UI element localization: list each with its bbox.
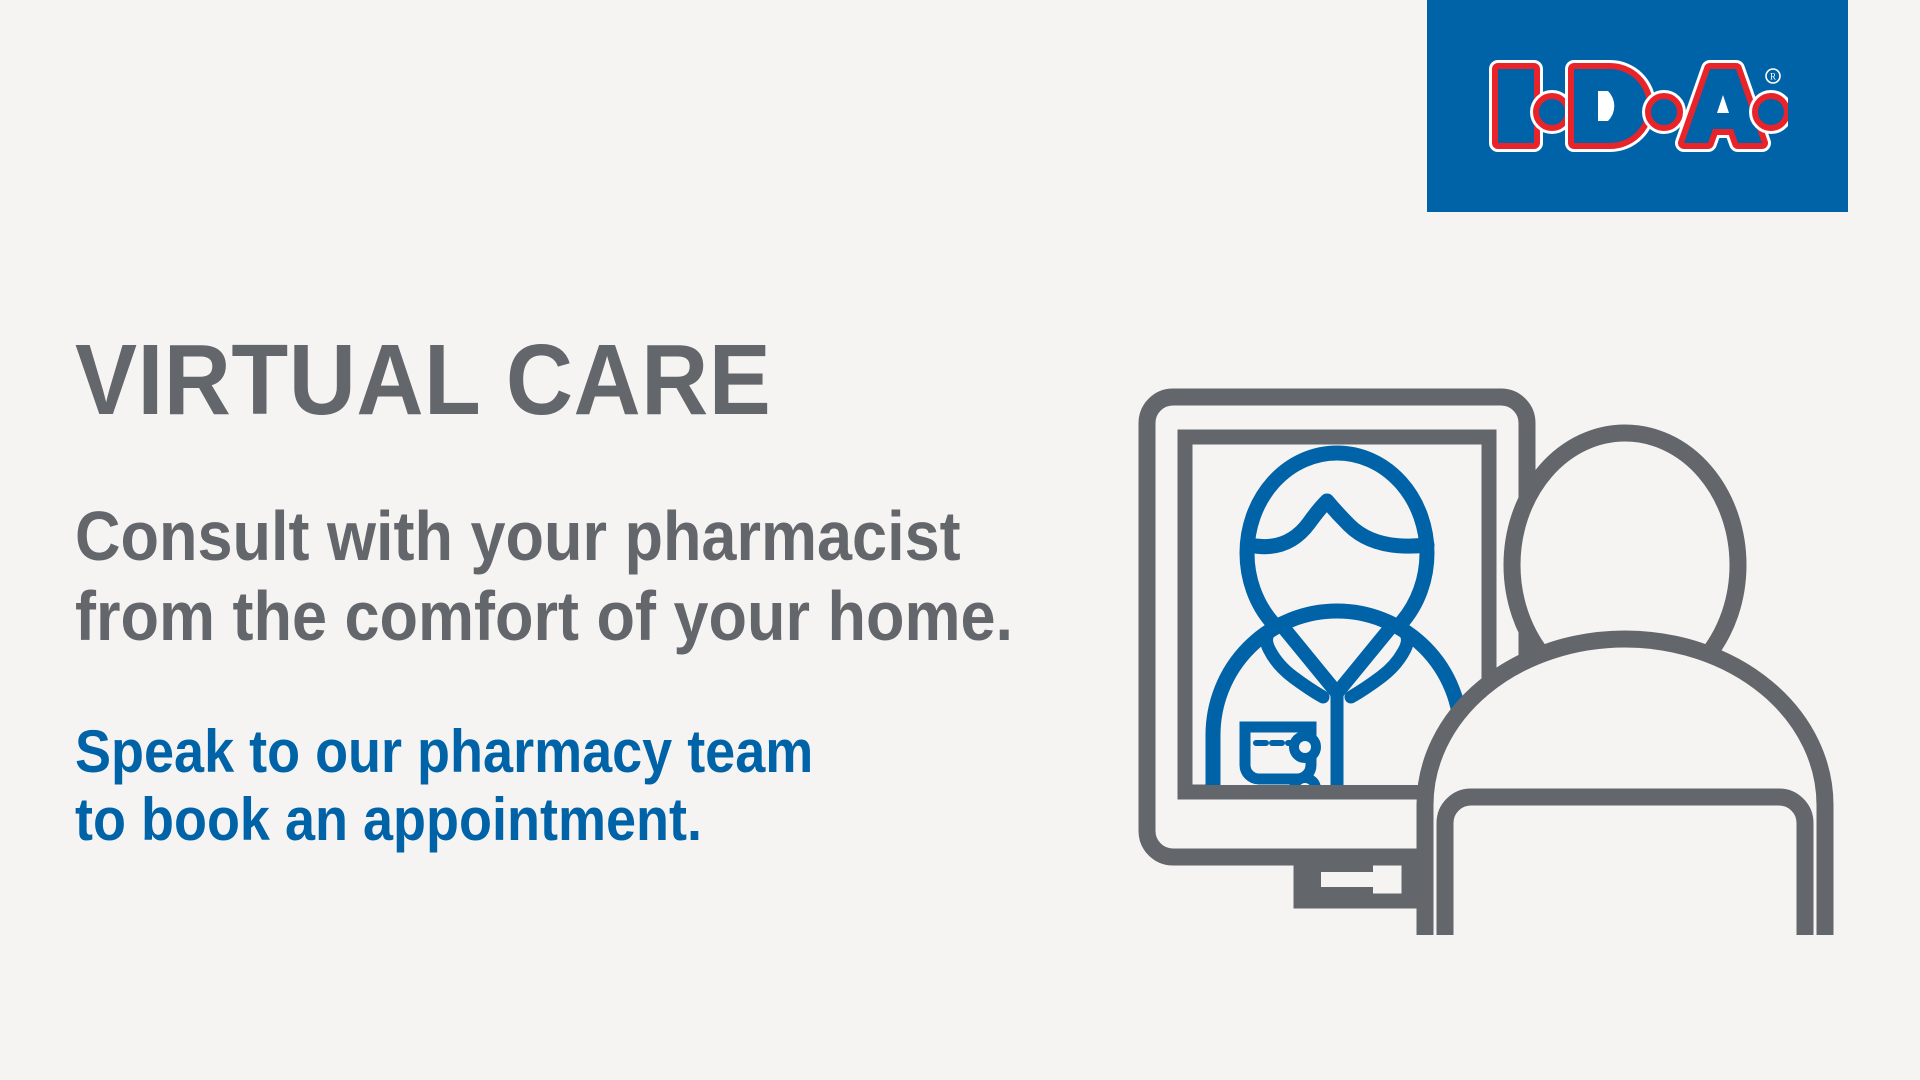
pharmacist-coat-button [1294,736,1316,758]
promo-banner: IDA Pharmacy logo [0,0,1920,1080]
call-to-action: Speak to our pharmacy team to book an ap… [75,656,975,854]
copy-block: VIRTUAL CARE Consult with your pharmacis… [75,330,1075,854]
subheading-line-1: Consult with your pharmacist [75,496,975,576]
cta-line-1: Speak to our pharmacy team [75,718,975,786]
svg-text:R: R [1769,72,1775,82]
virtual-care-illustration [1125,375,1865,935]
cta-line-2: to book an appointment. [75,786,975,854]
subheading: Consult with your pharmacist from the co… [75,430,975,656]
ida-logo-box: IDA Pharmacy logo [1427,0,1848,212]
patient-chair [1445,797,1805,935]
logo-alt-text: IDA Pharmacy logo [1427,0,1428,1]
registered-mark-icon: R [1766,69,1780,83]
ida-logo-icon: R [1488,51,1788,161]
subheading-line-2: from the comfort of your home. [75,576,975,656]
page-title: VIRTUAL CARE [75,330,1005,430]
monitor-stand-slot [1321,872,1391,887]
